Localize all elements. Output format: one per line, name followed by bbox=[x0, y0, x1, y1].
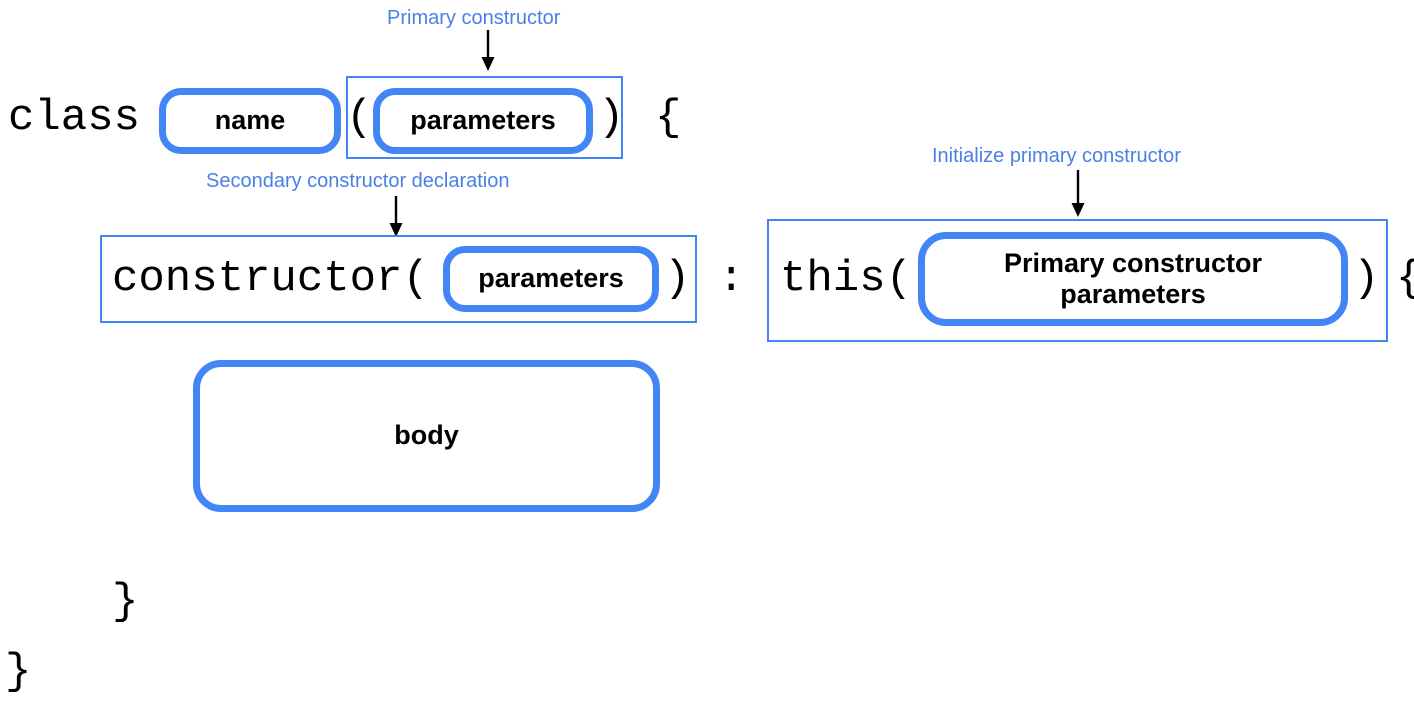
slot-line-2: parameters bbox=[1004, 279, 1262, 310]
slot-primary-constructor-parameters[interactable]: Primary constructor parameters bbox=[918, 232, 1348, 326]
code-open-brace-class: { bbox=[655, 96, 681, 140]
slot-primary-parameters[interactable]: parameters bbox=[373, 88, 593, 154]
diagram-canvas: Primary constructor class name ( paramet… bbox=[0, 0, 1414, 711]
annotation-primary-constructor: Primary constructor bbox=[387, 7, 560, 29]
slot-body[interactable]: body bbox=[193, 360, 660, 512]
arrow-down-icon-initialize-primary-constructor bbox=[1068, 170, 1088, 218]
slot-primary-constructor-parameters-text: Primary constructor parameters bbox=[1004, 248, 1262, 310]
code-class-keyword: class bbox=[8, 96, 140, 140]
code-close-brace-class: } bbox=[5, 650, 31, 694]
code-close-paren-primary: ) bbox=[598, 96, 624, 140]
code-colon-delegation: : bbox=[718, 257, 744, 301]
code-this-keyword: this( bbox=[780, 257, 912, 301]
slot-secondary-parameters[interactable]: parameters bbox=[443, 246, 659, 312]
slot-class-name[interactable]: name bbox=[159, 88, 341, 154]
code-close-paren-this: ) bbox=[1353, 257, 1379, 301]
arrow-down-icon-secondary-constructor bbox=[386, 196, 406, 238]
annotation-initialize-primary-constructor: Initialize primary constructor bbox=[932, 145, 1181, 167]
annotation-secondary-constructor-declaration: Secondary constructor declaration bbox=[206, 170, 510, 192]
slot-line-1: Primary constructor bbox=[1004, 248, 1262, 279]
code-constructor-keyword: constructor( bbox=[112, 257, 429, 301]
code-close-brace-secondary: } bbox=[112, 580, 138, 624]
code-close-paren-secondary: ) bbox=[664, 257, 690, 301]
code-open-brace-secondary: { bbox=[1396, 257, 1414, 301]
arrow-down-icon-primary-constructor bbox=[478, 30, 498, 72]
code-open-paren-primary: ( bbox=[346, 96, 372, 140]
